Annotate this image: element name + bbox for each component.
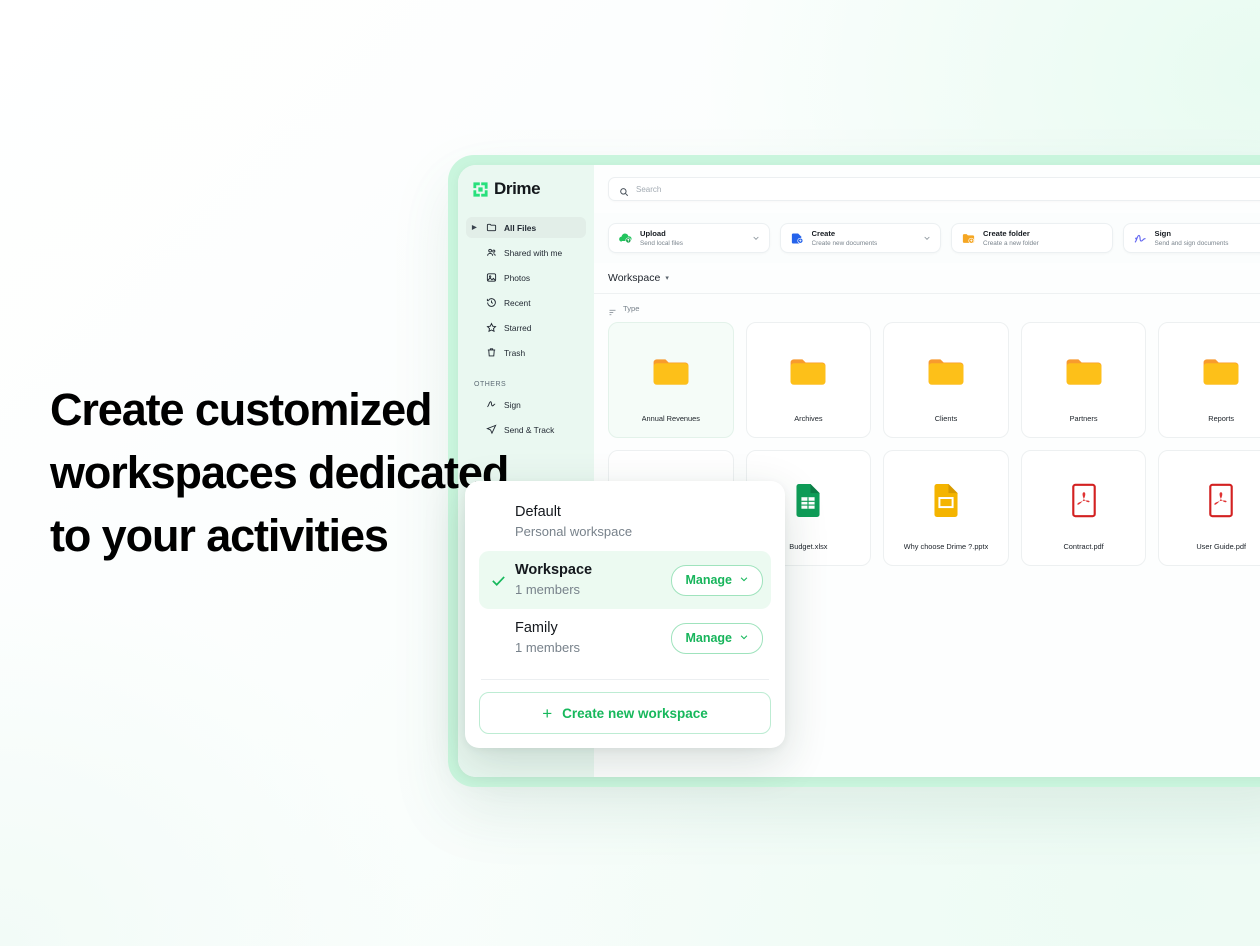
star-icon bbox=[485, 322, 497, 334]
workspace-name: Family bbox=[515, 619, 663, 638]
workspace-option-workspace[interactable]: Workspace 1 members Manage bbox=[479, 551, 771, 609]
workspace-selector-button[interactable]: Workspace ▾ bbox=[608, 272, 669, 284]
create-new-workspace-label: Create new workspace bbox=[562, 706, 708, 721]
create-folder-button[interactable]: Create folder Create a new folder bbox=[951, 223, 1113, 253]
pdf-icon bbox=[1207, 479, 1235, 521]
sidebar-item-starred[interactable]: Starred bbox=[466, 317, 586, 338]
workspace-name: Default bbox=[515, 503, 763, 522]
brand-name: Drime bbox=[494, 179, 540, 199]
create-folder-subtitle: Create a new folder bbox=[983, 239, 1103, 248]
image-icon bbox=[485, 272, 497, 284]
create-text: Create Create new documents bbox=[812, 229, 917, 248]
file-card[interactable]: User Guide.pdf bbox=[1158, 450, 1260, 566]
file-name: Partners bbox=[1070, 414, 1098, 423]
create-title: Create bbox=[812, 229, 917, 239]
workspace-selector-label: Workspace bbox=[608, 272, 660, 284]
workspace-subtitle: 1 members bbox=[515, 638, 663, 657]
sign-text: Sign Send and sign documents bbox=[1155, 229, 1260, 248]
sort-filter-icon bbox=[608, 304, 617, 313]
signature-pen-icon bbox=[1133, 231, 1148, 246]
check-icon bbox=[489, 572, 507, 589]
workspace-subtitle: 1 members bbox=[515, 580, 663, 599]
manage-button[interactable]: Manage bbox=[671, 623, 763, 654]
workspace-text: Default Personal workspace bbox=[515, 503, 763, 541]
brand: Drime bbox=[466, 179, 586, 199]
file-name: Clients bbox=[935, 414, 958, 423]
presentation-icon bbox=[932, 479, 960, 521]
sidebar-item-label: Photos bbox=[504, 273, 530, 283]
create-doc-icon bbox=[790, 231, 805, 246]
search-placeholder: Search bbox=[636, 185, 661, 194]
file-card[interactable]: Why choose Drime ?.pptx bbox=[883, 450, 1009, 566]
sidebar-item-label: Starred bbox=[504, 323, 531, 333]
file-card[interactable]: Reports bbox=[1158, 322, 1260, 438]
workspace-selector-row: Workspace ▾ bbox=[594, 263, 1260, 294]
chevron-down-icon[interactable] bbox=[752, 229, 760, 247]
folder-icon bbox=[1065, 351, 1103, 393]
workspace-text: Family 1 members bbox=[515, 619, 663, 657]
sidebar-item-trash[interactable]: Trash bbox=[466, 342, 586, 363]
chevron-down-icon[interactable] bbox=[923, 229, 931, 247]
upload-cloud-icon bbox=[618, 231, 633, 246]
filter-row: Type bbox=[594, 294, 1260, 322]
action-button-row: Upload Send local files bbox=[594, 213, 1260, 263]
workspace-name: Workspace bbox=[515, 561, 663, 580]
chevron-right-icon: ▶ bbox=[472, 225, 478, 231]
file-name: User Guide.pdf bbox=[1196, 542, 1246, 551]
file-name: Budget.xlsx bbox=[789, 542, 827, 551]
search-input[interactable]: Search bbox=[608, 177, 1260, 201]
folder-icon bbox=[789, 351, 827, 393]
file-name: Why choose Drime ?.pptx bbox=[904, 542, 989, 551]
folder-icon bbox=[927, 351, 965, 393]
people-icon bbox=[485, 247, 497, 259]
sidebar-item-label: All Files bbox=[504, 223, 536, 233]
sidebar-item-label: Trash bbox=[504, 348, 525, 358]
filter-label[interactable]: Type bbox=[623, 304, 639, 313]
page-background: Drime ▶ All Files bbox=[0, 0, 1260, 946]
sign-title: Sign bbox=[1155, 229, 1260, 239]
workspace-option-default[interactable]: Default Personal workspace bbox=[479, 493, 771, 551]
trash-icon bbox=[485, 347, 497, 359]
manage-label: Manage bbox=[685, 573, 732, 587]
file-card[interactable]: Clients bbox=[883, 322, 1009, 438]
file-card[interactable]: Archives bbox=[746, 322, 872, 438]
sign-subtitle: Send and sign documents bbox=[1155, 239, 1260, 248]
create-new-workspace-button[interactable]: + Create new workspace bbox=[479, 692, 771, 734]
sidebar-item-all-files[interactable]: ▶ All Files bbox=[466, 217, 586, 238]
upload-text: Upload Send local files bbox=[640, 229, 745, 248]
drime-logo-icon bbox=[472, 181, 489, 198]
workspace-option-family[interactable]: Family 1 members Manage bbox=[479, 609, 771, 667]
new-folder-icon bbox=[961, 231, 976, 246]
folder-icon bbox=[1202, 351, 1240, 393]
sidebar-item-recent[interactable]: Recent bbox=[466, 292, 586, 313]
sidebar-item-shared-with-me[interactable]: Shared with me bbox=[466, 242, 586, 263]
spreadsheet-icon bbox=[794, 479, 822, 521]
create-folder-title: Create folder bbox=[983, 229, 1103, 239]
top-bar: Search bbox=[594, 165, 1260, 213]
chevron-down-icon: ▾ bbox=[665, 274, 669, 282]
workspace-subtitle: Personal workspace bbox=[515, 522, 763, 541]
upload-title: Upload bbox=[640, 229, 745, 239]
plus-icon: + bbox=[542, 705, 552, 722]
workspace-text: Workspace 1 members bbox=[515, 561, 663, 599]
pdf-icon bbox=[1070, 479, 1098, 521]
create-subtitle: Create new documents bbox=[812, 239, 917, 248]
chevron-down-icon bbox=[739, 632, 749, 644]
search-icon bbox=[619, 184, 629, 194]
upload-subtitle: Send local files bbox=[640, 239, 745, 248]
manage-button[interactable]: Manage bbox=[671, 565, 763, 596]
create-button[interactable]: Create Create new documents bbox=[780, 223, 942, 253]
sidebar-item-label: Recent bbox=[504, 298, 531, 308]
file-card[interactable]: Partners bbox=[1021, 322, 1147, 438]
file-name: Contract.pdf bbox=[1063, 542, 1103, 551]
sidebar-item-photos[interactable]: Photos bbox=[466, 267, 586, 288]
clock-icon bbox=[485, 297, 497, 309]
sign-button[interactable]: Sign Send and sign documents bbox=[1123, 223, 1260, 253]
sidebar-item-label: Shared with me bbox=[504, 248, 562, 258]
folder-icon bbox=[485, 222, 497, 234]
file-name: Archives bbox=[794, 414, 822, 423]
divider bbox=[481, 679, 769, 680]
chevron-down-icon bbox=[739, 574, 749, 586]
create-folder-text: Create folder Create a new folder bbox=[983, 229, 1103, 248]
file-card[interactable]: Contract.pdf bbox=[1021, 450, 1147, 566]
file-name: Reports bbox=[1208, 414, 1234, 423]
workspace-popup: Default Personal workspace Workspace 1 m… bbox=[465, 481, 785, 748]
upload-button[interactable]: Upload Send local files bbox=[608, 223, 770, 253]
manage-label: Manage bbox=[685, 631, 732, 645]
